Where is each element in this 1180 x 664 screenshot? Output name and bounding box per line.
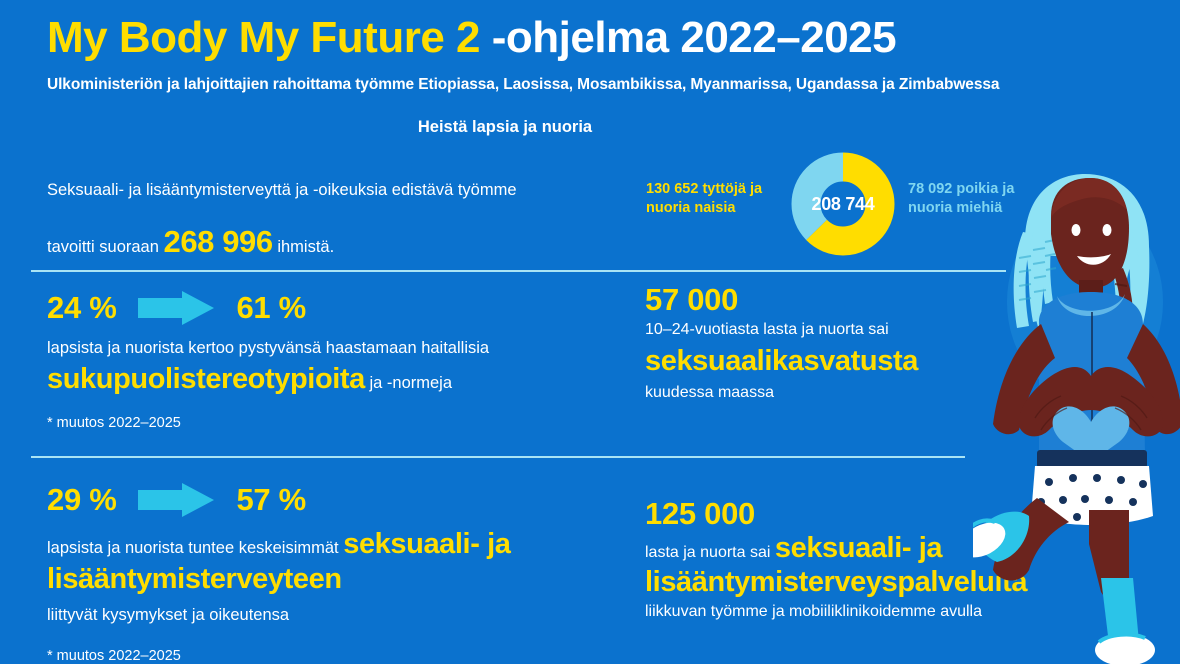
eye-left <box>1072 224 1081 236</box>
stat-number: 57 000 <box>645 283 1005 317</box>
intro-line-1: Seksuaali- ja lisääntymisterveyttä ja -o… <box>47 172 607 208</box>
stat-body-line-2: sukupuolistereotypioita ja -normeja <box>47 363 622 397</box>
stat-body: lapsista ja nuorista tuntee keskeisimmät… <box>47 527 622 597</box>
page-title: My Body My Future 2 -ohjelma 2022–2025 <box>47 14 896 62</box>
stat-from-percent: 29 % <box>47 482 116 518</box>
stat-sex-education: 57 000 10–24-vuotiasta lasta ja nuorta s… <box>645 283 1005 402</box>
donut-chart-title: Heistä lapsia ja nuoria <box>0 118 1010 137</box>
right-arrow-icon <box>138 291 214 325</box>
shoe-standing <box>1095 634 1155 664</box>
page-subtitle: Ulkoministeriön ja lahjoittajien rahoitt… <box>47 76 999 94</box>
stat-subtext-2: kuudessa maassa <box>645 384 1005 402</box>
hair-braids-right <box>1109 218 1142 336</box>
stat-subtext: lasta ja nuorta sai <box>645 544 775 561</box>
intro-line-2-pre: tavoitti suoraan <box>47 238 163 256</box>
stat-srhr-knowledge: 29 % 57 % lapsista ja nuorista tuntee ke… <box>47 480 622 664</box>
stat-body-pre: lapsista ja nuorista tuntee keskeisimmät <box>47 539 343 557</box>
hoodie-pocket <box>1057 380 1127 430</box>
heart-shape <box>1053 406 1130 462</box>
braid-over-shoulder <box>1113 268 1133 346</box>
page-title-rest: -ohjelma 2022–2025 <box>480 13 896 62</box>
hoodie <box>1039 292 1145 464</box>
stat-body-line-1: lapsista ja nuorista kertoo pystyvänsä h… <box>47 337 622 361</box>
intro-line-2: tavoitti suoraan 268 996 ihmistä. <box>47 208 607 276</box>
stat-change-row: 29 % 57 % <box>47 480 622 520</box>
shoe-standing-stripe <box>1099 635 1145 642</box>
stat-number: 125 000 <box>645 498 1125 531</box>
waistband <box>1037 450 1147 468</box>
page-title-highlight: My Body My Future 2 <box>47 13 480 62</box>
mouth <box>1077 254 1111 265</box>
stat-footnote: * muutos 2022–2025 <box>47 415 622 431</box>
intro-statement: Seksuaali- ja lisääntymisterveyttä ja -o… <box>47 172 607 276</box>
stat-to-percent: 61 % <box>236 290 305 326</box>
arm-right <box>1127 324 1180 434</box>
stat-from-percent: 24 % <box>47 290 116 326</box>
stat-highlight: seksuaali- ja lisääntymisterveyspalvelui… <box>645 532 1027 599</box>
infographic-page: My Body My Future 2 -ohjelma 2022–2025 U… <box>0 0 1180 664</box>
stat-srh-services: 125 000 lasta ja nuorta sai seksuaali- j… <box>645 498 1125 621</box>
donut-chart: 208 744 <box>791 152 895 256</box>
stat-to-percent: 57 % <box>236 482 305 518</box>
stat-body-post: liittyvät kysymykset ja oikeutensa <box>47 604 622 628</box>
braid-over-shoulder-texture <box>1115 284 1130 328</box>
stat-footnote: * muutos 2022–2025 <box>47 648 622 664</box>
stat-change-row: 24 % 61 % <box>47 288 622 328</box>
divider-bottom <box>31 456 965 458</box>
stat-subtext-2: liikkuvan työmme ja mobiiliklinikoidemme… <box>645 603 1125 621</box>
stat-body-line-2-post: ja -normeja <box>365 374 452 392</box>
hair-texture <box>1019 240 1056 300</box>
hair-braids-left <box>1014 222 1055 328</box>
hands-heart <box>1019 367 1163 436</box>
intro-reach-number: 268 996 <box>163 224 272 259</box>
right-arrow-icon <box>138 483 214 517</box>
donut-legend-boys: 78 092 poikia ja nuoria miehiä <box>908 180 1053 217</box>
donut-center-value: 208 744 <box>791 152 895 256</box>
finger-lines <box>1035 396 1147 430</box>
stat-highlight: sukupuolistereotypioita <box>47 363 365 395</box>
neck <box>1079 280 1103 300</box>
intro-line-2-post: ihmistä. <box>273 238 334 256</box>
stat-subtext: 10–24-vuotiasta lasta ja nuorta sai <box>645 321 1005 339</box>
donut-legend-girls: 130 652 tyttöjä ja nuoria naisia <box>646 180 791 217</box>
glow-shape <box>1007 206 1163 398</box>
face <box>1051 178 1129 288</box>
hood-collar <box>1057 294 1125 316</box>
hair-front <box>1051 178 1127 218</box>
eye-right <box>1103 224 1112 236</box>
stat-body: lasta ja nuorta sai seksuaali- ja lisään… <box>645 531 1125 601</box>
stat-gender-stereotypes: 24 % 61 % lapsista ja nuorista kertoo py… <box>47 288 622 431</box>
stat-highlight: seksuaalikasvatusta <box>645 345 1005 379</box>
